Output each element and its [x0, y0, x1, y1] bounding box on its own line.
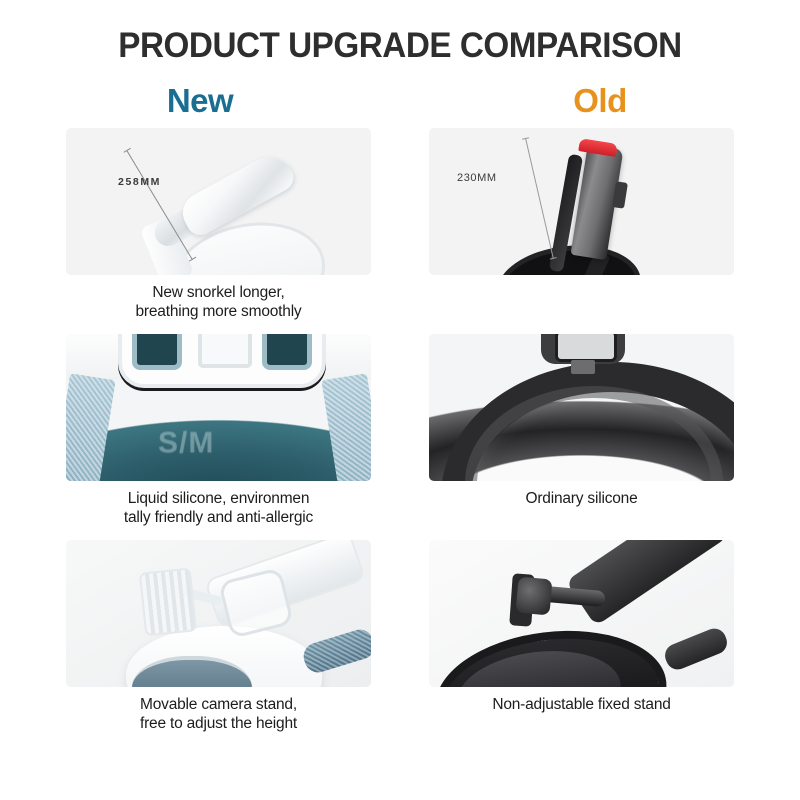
image-panel-new-silicone: S/M [66, 334, 371, 481]
comparison-grid: 258MM New snorkel longer, breathing more… [0, 128, 800, 733]
caption-old-snorkel [429, 275, 734, 284]
image-panel-new-snorkel: 258MM [66, 128, 371, 275]
dimension-label-new: 258MM [118, 176, 161, 188]
comparison-row-snorkel-length: 258MM New snorkel longer, breathing more… [66, 128, 734, 322]
cell-old-silicone: Ordinary silicone [429, 334, 734, 528]
row-spacer [66, 528, 734, 540]
comparison-row-camera-stand: Movable camera stand, free to adjust the… [66, 540, 734, 734]
new-vent-left-shape [132, 334, 182, 370]
old-valve-window-shape [555, 334, 617, 362]
caption-new-silicone: Liquid silicone, environmen tally friend… [66, 481, 371, 528]
comparison-row-silicone: S/M Liquid silicone, environmen tally fr… [66, 334, 734, 528]
image-panel-old-snorkel: 230MM [429, 128, 734, 275]
column-headers: New Old [0, 82, 800, 120]
size-marking-label: S/M [158, 426, 214, 460]
old-mount-knob-shape [515, 576, 552, 615]
caption-line: Non-adjustable fixed stand [429, 696, 734, 715]
column-header-new: New [0, 82, 400, 120]
caption-line: free to adjust the height [66, 715, 371, 734]
old-snorkel-clip-shape [612, 181, 628, 209]
page-title: PRODUCT UPGRADE COMPARISON [20, 0, 780, 66]
caption-line: Ordinary silicone [429, 490, 734, 509]
column-header-old: Old [400, 82, 800, 120]
old-snorkel-red-tip-shape [578, 138, 618, 157]
new-mask-vent-frame-shape [118, 334, 326, 388]
old-mask-frame-shape [493, 239, 645, 275]
dimension-label-old: 230MM [457, 172, 497, 184]
cell-old-snorkel: 230MM [429, 128, 734, 322]
cell-old-camera-stand: Non-adjustable fixed stand [429, 540, 734, 734]
caption-line: tally friendly and anti-allergic [66, 509, 371, 528]
caption-line: breathing more smoothly [66, 303, 371, 322]
caption-old-silicone: Ordinary silicone [429, 481, 734, 509]
new-snorkel-illustration [66, 128, 371, 275]
dimension-arrow-icon [525, 138, 554, 259]
cell-new-snorkel: 258MM New snorkel longer, breathing more… [66, 128, 371, 322]
caption-old-camera-stand: Non-adjustable fixed stand [429, 687, 734, 715]
image-panel-new-camera-stand [66, 540, 371, 687]
caption-new-snorkel: New snorkel longer, breathing more smoot… [66, 275, 371, 322]
cell-new-camera-stand: Movable camera stand, free to adjust the… [66, 540, 371, 734]
image-panel-old-silicone [429, 334, 734, 481]
new-movable-camera-mount-shape [139, 567, 197, 636]
old-valve-tab-shape [571, 360, 595, 374]
row-spacer [66, 322, 734, 334]
caption-line: New snorkel longer, [66, 284, 371, 303]
new-vent-right-shape [262, 334, 312, 370]
caption-new-camera-stand: Movable camera stand, free to adjust the… [66, 687, 371, 734]
cell-new-silicone: S/M Liquid silicone, environmen tally fr… [66, 334, 371, 528]
new-vent-center-shape [198, 334, 252, 368]
image-panel-old-camera-stand [429, 540, 734, 687]
caption-line: Movable camera stand, [66, 696, 371, 715]
infographic-root: PRODUCT UPGRADE COMPARISON New Old 258MM [0, 0, 800, 733]
caption-line: Liquid silicone, environmen [66, 490, 371, 509]
